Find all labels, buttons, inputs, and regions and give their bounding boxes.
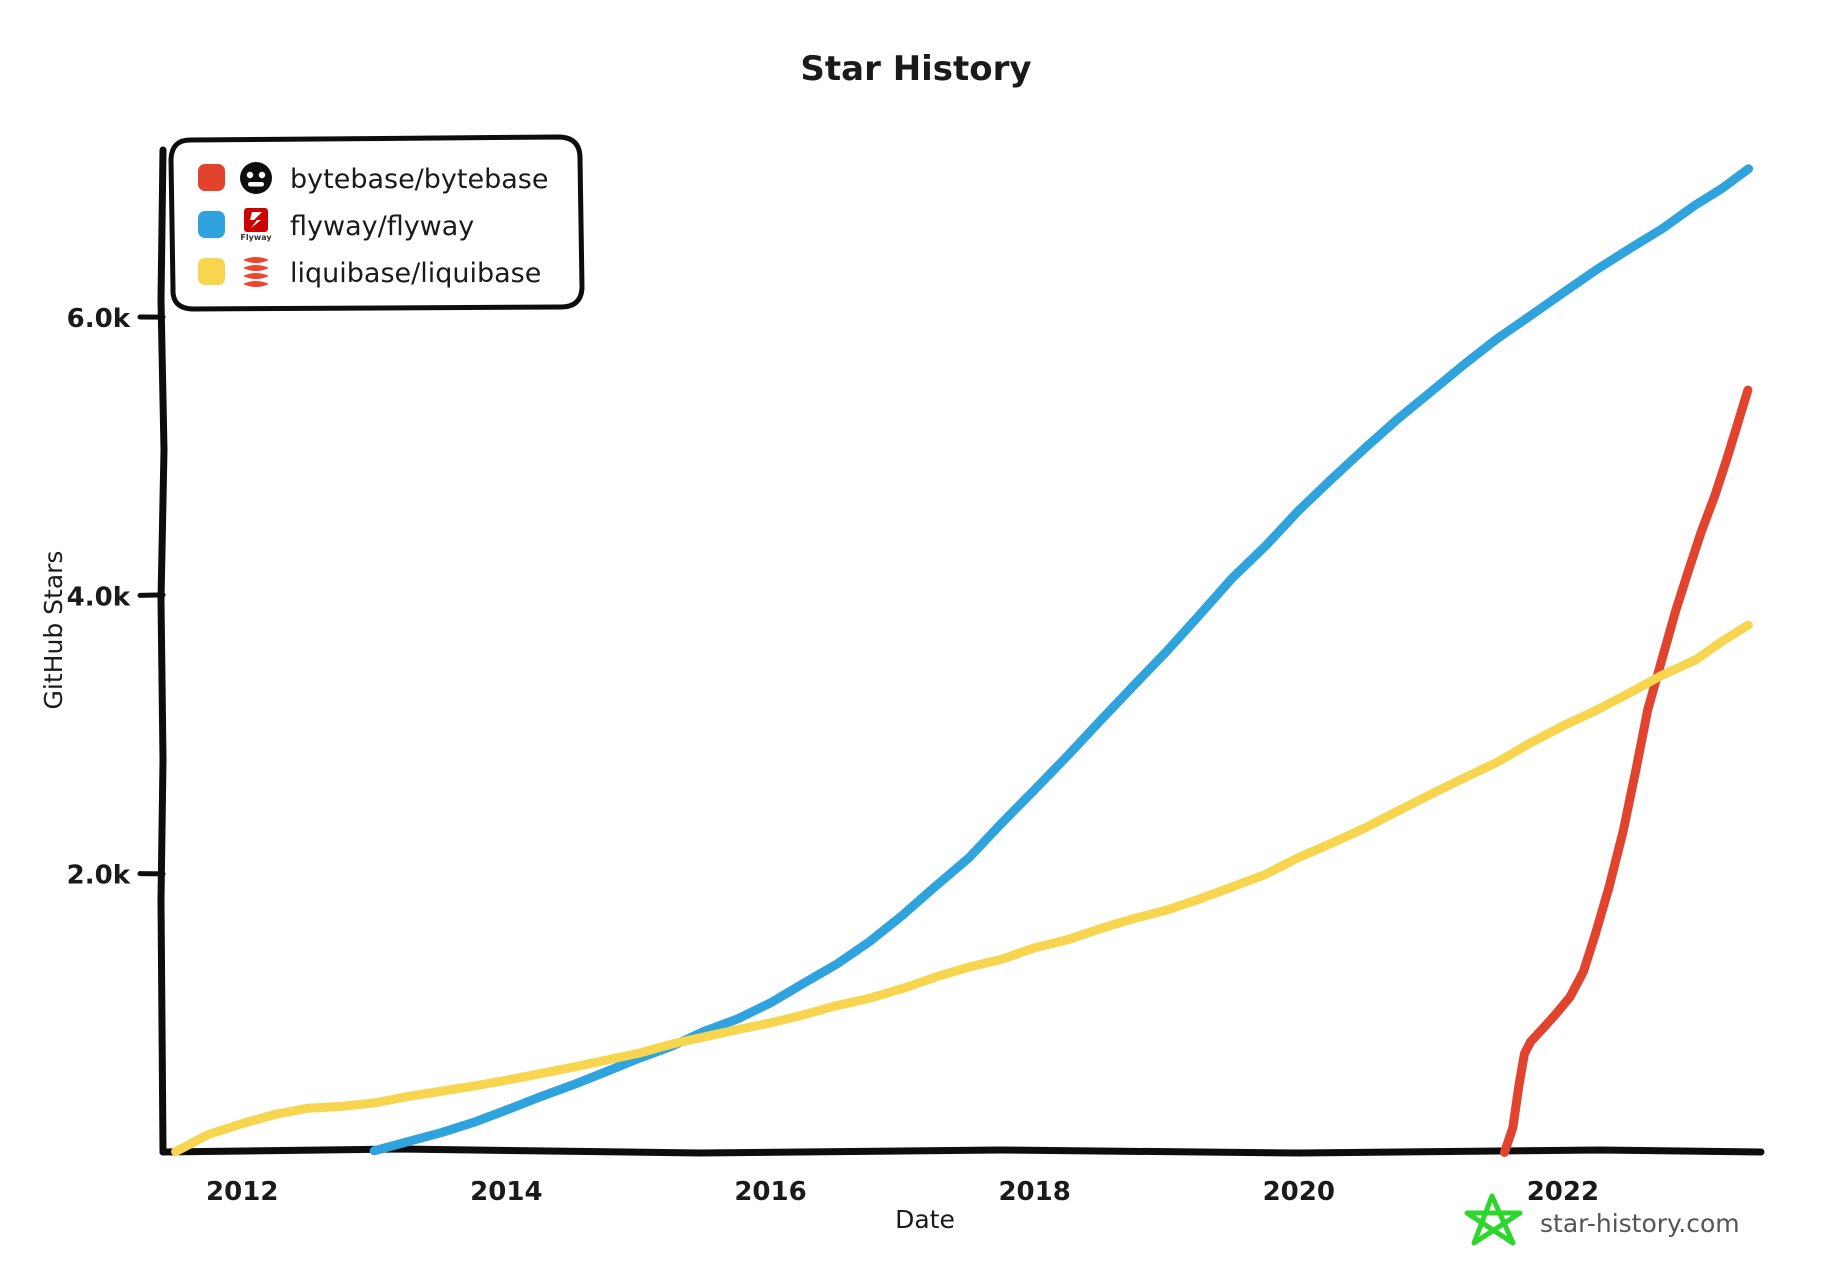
series-line-bytebase [1505,390,1748,1152]
flyway-avatar-wordmark: Flyway [240,233,272,242]
x-tick-label: 2022 [1527,1177,1599,1207]
watermark[interactable]: star-history.com [1467,1196,1740,1243]
x-tick-label: 2014 [470,1177,542,1207]
chart-title: Star History [800,49,1031,89]
y-axis-line [161,150,164,1152]
star-icon [1467,1196,1520,1243]
x-axis-tick-labels: 201220142016201820202022 [206,1177,1599,1207]
series-lines-layer [176,169,1749,1153]
x-tick-label: 2016 [734,1177,806,1207]
y-tick-label: 2.0k [67,861,131,891]
y-tick-label: 6.0k [67,304,131,334]
x-tick-label: 2012 [206,1177,278,1207]
y-axis-tick-labels: 2.0k4.0k6.0k [67,304,131,891]
series-line-liquibase [176,625,1749,1152]
chart-legend[interactable]: bytebase/bytebaseFlywayflyway/flywayliqu… [171,137,582,309]
legend-item-label: bytebase/bytebase [290,164,548,195]
flyway-avatar-icon [244,208,268,232]
legend-color-swatch [198,211,225,238]
bytebase-avatar-eye-icon [247,172,253,178]
x-axis-line [163,1149,1761,1153]
legend-item-bytebase[interactable]: bytebase/bytebase [198,162,548,195]
watermark-label: star-history.com [1540,1209,1740,1238]
series-line-flyway [374,169,1748,1151]
x-tick-label: 2020 [1263,1177,1335,1207]
y-tick-label: 4.0k [67,582,131,612]
legend-color-swatch [198,164,225,191]
chart-canvas: Star History 2.0k4.0k6.0k 20122014201620… [0,0,1832,1276]
bytebase-avatar-mouth-icon [248,182,264,187]
bytebase-avatar-eye-icon [259,172,265,178]
x-axis-title: Date [895,1205,955,1234]
legend-item-label: liquibase/liquibase [290,258,541,289]
legend-color-swatch [198,258,225,285]
bytebase-avatar-icon [240,162,272,194]
y-axis-title: GitHub Stars [39,551,68,710]
star-history-chart-page: Star History 2.0k4.0k6.0k 20122014201620… [0,0,1832,1276]
x-tick-label: 2018 [998,1177,1070,1207]
legend-item-label: flyway/flyway [290,211,474,242]
